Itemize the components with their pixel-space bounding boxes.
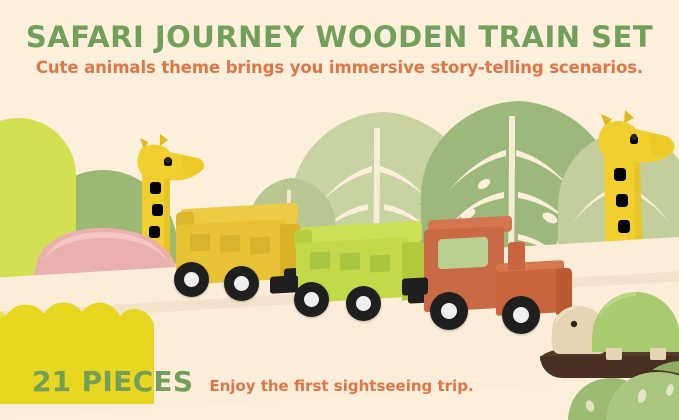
train-car-yellow bbox=[176, 206, 306, 311]
footer-block: 21 PIECES Enjoy the first sightseeing tr… bbox=[32, 365, 474, 398]
page-subtitle: Cute animals theme brings you immersive … bbox=[0, 58, 679, 77]
locomotive-coupler bbox=[402, 277, 428, 295]
locomotive-smokestack bbox=[508, 242, 525, 271]
green-car-wheel bbox=[294, 282, 329, 317]
footer-tagline: Enjoy the first sightseeing trip. bbox=[209, 377, 473, 395]
green-car-coupler bbox=[270, 275, 298, 294]
green-car-wheel bbox=[346, 286, 381, 321]
yellow-car-window bbox=[190, 233, 210, 251]
product-banner: SAFARI JOURNEY WOODEN TRAIN SET Cute ani… bbox=[0, 0, 679, 420]
yellow-car-wheel bbox=[174, 262, 209, 297]
green-car-window bbox=[370, 254, 390, 272]
green-car-window bbox=[340, 252, 360, 270]
bottom-right-leaves bbox=[560, 352, 679, 420]
yellow-car-wheel bbox=[224, 266, 259, 301]
yellow-car-window bbox=[250, 236, 270, 254]
turtle-shell bbox=[590, 290, 679, 360]
yellow-car-window bbox=[220, 234, 240, 252]
locomotive-wheel bbox=[502, 296, 540, 334]
green-car-window bbox=[310, 251, 330, 269]
locomotive-wheel bbox=[430, 292, 468, 330]
locomotive-cab-window bbox=[438, 237, 488, 270]
pieces-count-label: 21 PIECES bbox=[32, 365, 193, 398]
headline-block: SAFARI JOURNEY WOODEN TRAIN SET Cute ani… bbox=[0, 22, 679, 77]
page-title: SAFARI JOURNEY WOODEN TRAIN SET bbox=[0, 22, 679, 52]
